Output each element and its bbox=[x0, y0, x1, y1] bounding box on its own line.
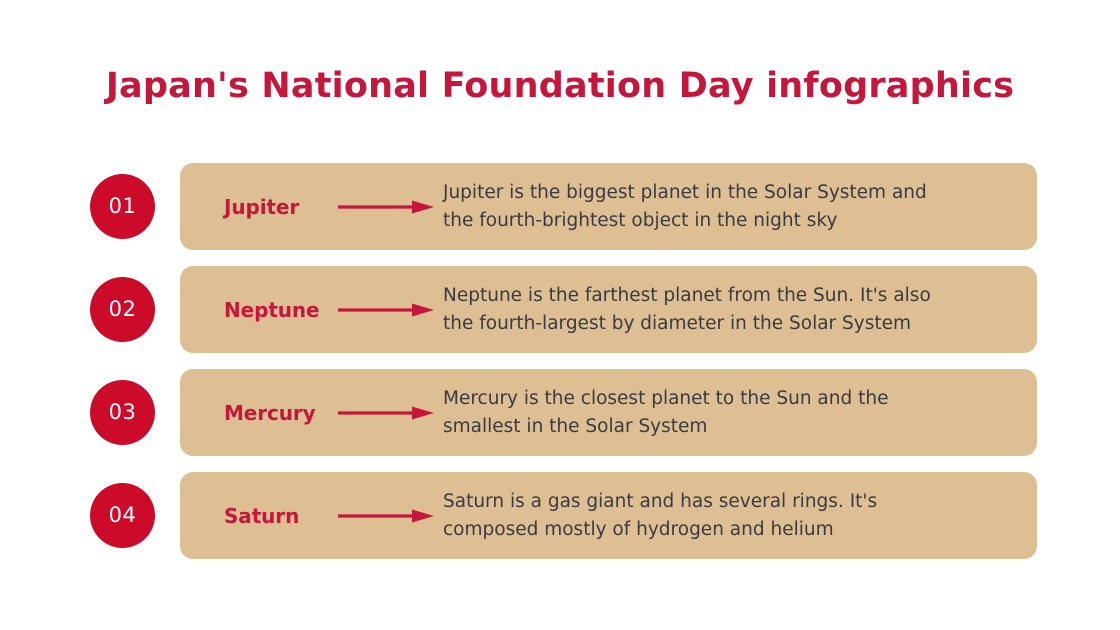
description-line-1: Jupiter is the biggest planet in the Sol… bbox=[443, 179, 1019, 207]
infographic-row-list: 01 Jupiter Jupiter is the biggest planet… bbox=[0, 163, 1120, 559]
info-card: Neptune Neptune is the farthest planet f… bbox=[180, 266, 1037, 353]
arrow-right-icon bbox=[338, 266, 435, 353]
step-number-label: 03 bbox=[109, 402, 137, 423]
arrow-right-icon bbox=[338, 472, 435, 559]
step-number-badge: 02 bbox=[90, 277, 155, 342]
description-line-2: the fourth-largest by diameter in the So… bbox=[443, 310, 1019, 338]
info-card: Jupiter Jupiter is the biggest planet in… bbox=[180, 163, 1037, 250]
description-line-1: Mercury is the closest planet to the Sun… bbox=[443, 385, 1019, 413]
infographic-row: 02 Neptune Neptune is the farthest plane… bbox=[0, 266, 1120, 353]
arrow-right-icon bbox=[338, 163, 435, 250]
step-number-label: 01 bbox=[109, 196, 137, 217]
planet-description: Jupiter is the biggest planet in the Sol… bbox=[443, 163, 1019, 250]
description-line-2: smallest in the Solar System bbox=[443, 413, 1019, 441]
infographic-row: 03 Mercury Mercury is the closest planet… bbox=[0, 369, 1120, 456]
planet-name-label: Saturn bbox=[224, 472, 299, 559]
infographic-row: 04 Saturn Saturn is a gas giant and has … bbox=[0, 472, 1120, 559]
planet-description: Mercury is the closest planet to the Sun… bbox=[443, 369, 1019, 456]
infographic-slide: Japan's National Foundation Day infograp… bbox=[0, 0, 1120, 630]
planet-name-label: Jupiter bbox=[224, 163, 299, 250]
page-title: Japan's National Foundation Day infograp… bbox=[0, 66, 1120, 106]
description-line-2: the fourth-brightest object in the night… bbox=[443, 207, 1019, 235]
planet-name-label: Neptune bbox=[224, 266, 320, 353]
arrow-right-icon bbox=[338, 369, 435, 456]
step-number-label: 04 bbox=[109, 505, 137, 526]
info-card: Mercury Mercury is the closest planet to… bbox=[180, 369, 1037, 456]
step-number-badge: 01 bbox=[90, 174, 155, 239]
step-number-label: 02 bbox=[109, 299, 137, 320]
planet-name-label: Mercury bbox=[224, 369, 316, 456]
description-line-1: Saturn is a gas giant and has several ri… bbox=[443, 488, 1019, 516]
description-line-2: composed mostly of hydrogen and helium bbox=[443, 516, 1019, 544]
planet-description: Neptune is the farthest planet from the … bbox=[443, 266, 1019, 353]
planet-description: Saturn is a gas giant and has several ri… bbox=[443, 472, 1019, 559]
step-number-badge: 03 bbox=[90, 380, 155, 445]
info-card: Saturn Saturn is a gas giant and has sev… bbox=[180, 472, 1037, 559]
infographic-row: 01 Jupiter Jupiter is the biggest planet… bbox=[0, 163, 1120, 250]
description-line-1: Neptune is the farthest planet from the … bbox=[443, 282, 1019, 310]
step-number-badge: 04 bbox=[90, 483, 155, 548]
